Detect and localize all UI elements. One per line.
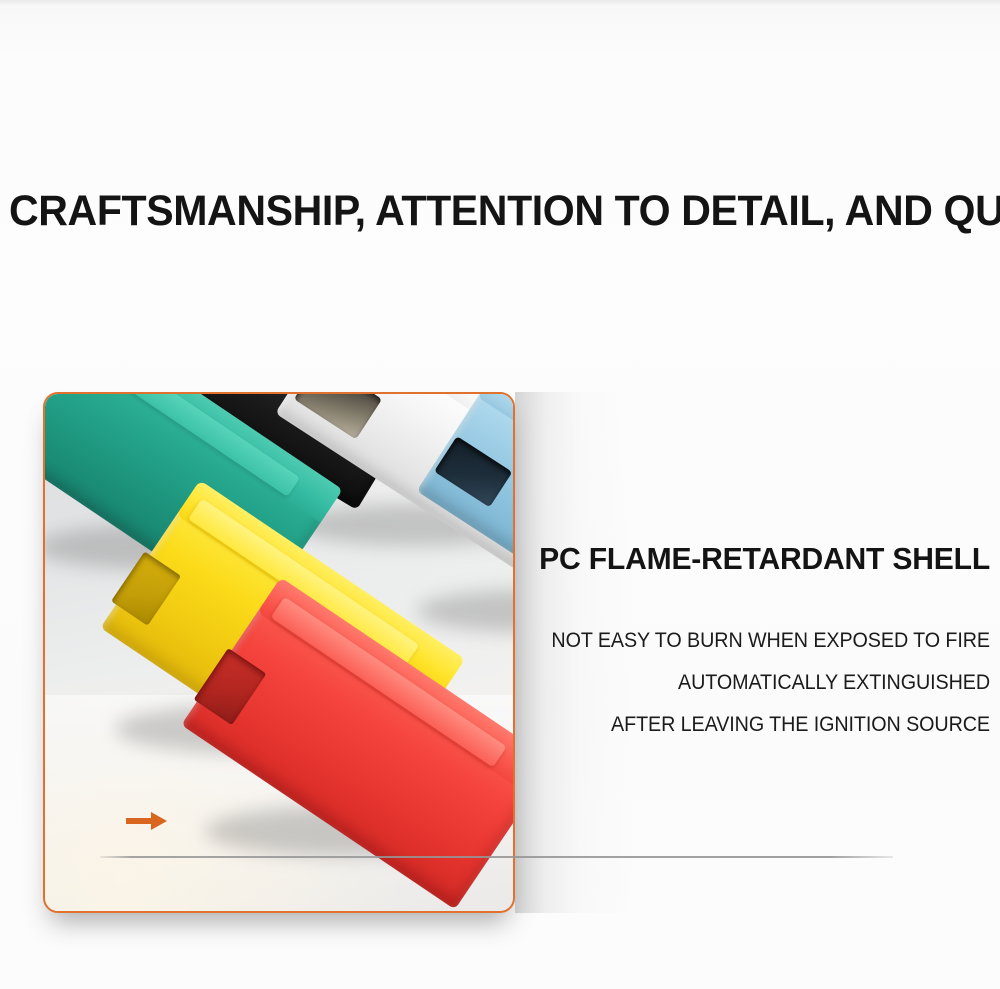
feature-description: NOT EASY TO BURN WHEN EXPOSED TO FIRE AU… bbox=[520, 620, 990, 746]
feature-title: PC FLAME-RETARDANT SHELL bbox=[534, 540, 990, 578]
horizontal-divider bbox=[100, 856, 893, 858]
feature-text-block: PC FLAME-RETARDANT SHELL NOT EASY TO BUR… bbox=[520, 540, 990, 746]
product-photo-panel bbox=[43, 392, 515, 913]
feature-line-1: NOT EASY TO BURN WHEN EXPOSED TO FIRE bbox=[548, 620, 990, 662]
feature-line-2: AUTOMATICALLY EXTINGUISHED bbox=[548, 662, 990, 704]
product-photo bbox=[45, 394, 513, 911]
arrow-right-icon bbox=[126, 810, 168, 832]
banner-page: CRAFTSMANSHIP, ATTENTION TO DETAIL, AND … bbox=[0, 0, 1000, 989]
feature-line-3: AFTER LEAVING THE IGNITION SOURCE bbox=[548, 704, 990, 746]
page-title: CRAFTSMANSHIP, ATTENTION TO DETAIL, AND … bbox=[9, 186, 945, 236]
